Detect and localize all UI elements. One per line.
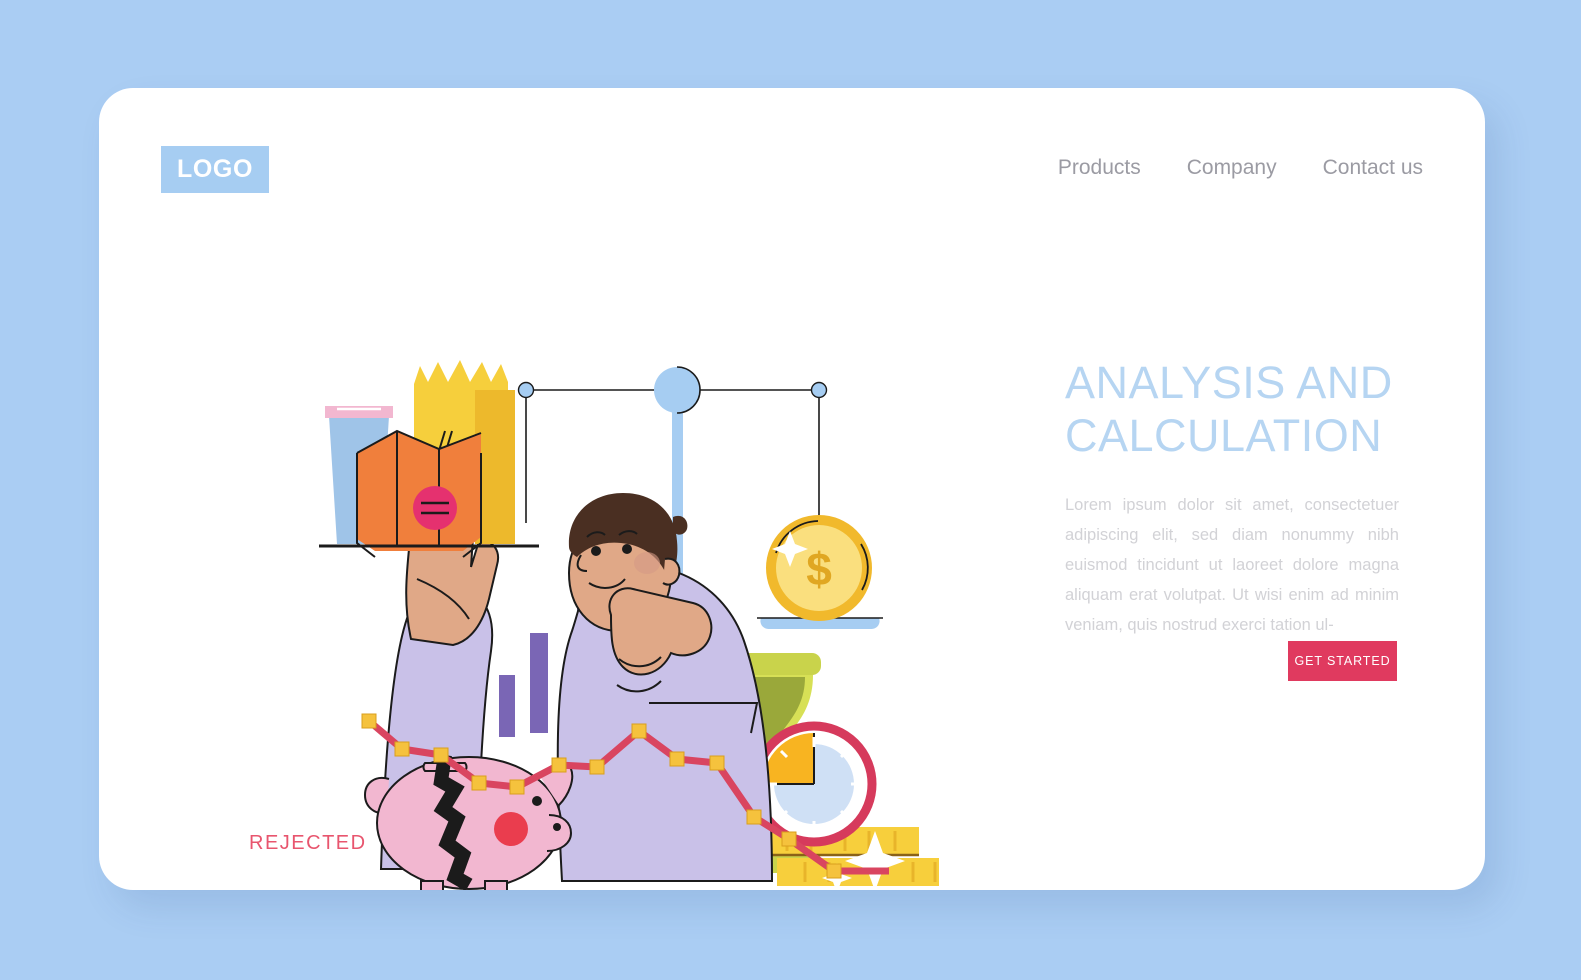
page-root: LOGO Products Company Contact us ANALYSI… xyxy=(0,0,1581,980)
broken-piggy-bank-icon: REJECTED xyxy=(249,755,572,890)
hero-paragraph: Lorem ipsum dolor sit amet, consectetuer… xyxy=(1065,490,1399,640)
hero-text-block: ANALYSIS AND CALCULATION Lorem ipsum dol… xyxy=(1065,356,1410,640)
svg-text:$: $ xyxy=(806,543,832,595)
get-started-button[interactable]: GET STARTED xyxy=(1288,641,1397,681)
nav-item-products[interactable]: Products xyxy=(1058,156,1141,180)
takeaway-food-icon xyxy=(319,360,539,557)
rejected-label: REJECTED xyxy=(249,832,367,854)
nav-item-company[interactable]: Company xyxy=(1187,156,1277,180)
logo[interactable]: LOGO xyxy=(161,146,269,193)
hero-illustration: $ xyxy=(249,263,939,890)
logo-label: LOGO xyxy=(177,155,253,184)
nav-item-contact-us[interactable]: Contact us xyxy=(1323,156,1423,180)
main-navigation: Products Company Contact us xyxy=(1058,156,1423,180)
clock-icon xyxy=(756,726,872,842)
page-title: ANALYSIS AND CALCULATION xyxy=(1065,356,1410,462)
dollar-coin-icon: $ xyxy=(766,515,872,621)
landing-card: LOGO Products Company Contact us ANALYSI… xyxy=(99,88,1485,890)
